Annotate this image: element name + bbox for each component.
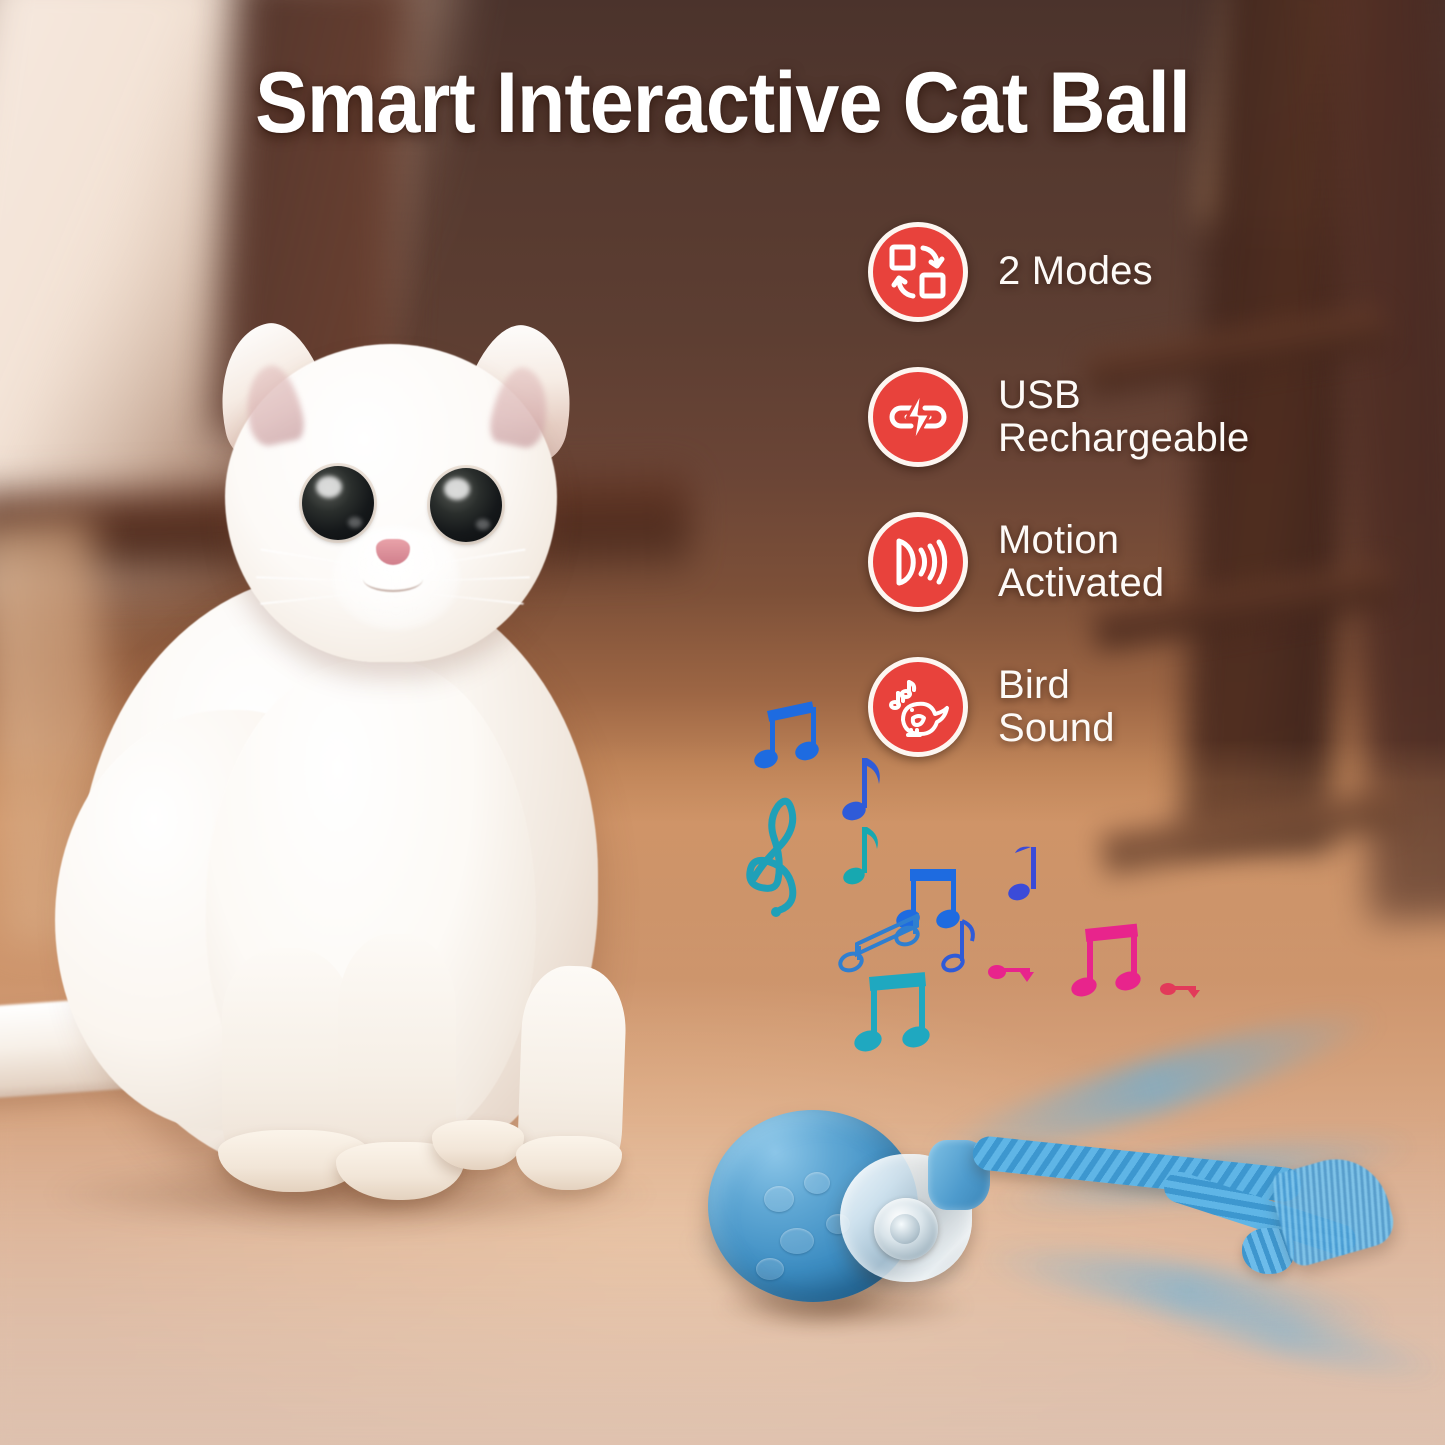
paw-print-emboss (756, 1258, 784, 1280)
page-title: Smart Interactive Cat Ball (58, 54, 1387, 153)
two-modes-swap-icon (868, 222, 968, 322)
cat-mouth (363, 566, 423, 592)
paw-print-emboss (780, 1228, 814, 1254)
feature-bird-sound[interactable]: Bird Sound (868, 651, 1348, 763)
cat-eye-right (430, 468, 502, 542)
cat-photo-subject (0, 330, 760, 1210)
feature-label: Motion Activated (998, 519, 1164, 605)
feature-usb-rechargeable[interactable]: USB Rechargeable (868, 361, 1348, 473)
cat-ball-toy (690, 1080, 1445, 1410)
feature-label: USB Rechargeable (998, 374, 1249, 460)
product-marketing-image: Smart Interactive Cat Ball 2 Modes (0, 0, 1445, 1445)
feature-motion-activated[interactable]: Motion Activated (868, 506, 1348, 618)
feature-label: Bird Sound (998, 664, 1115, 750)
bird-music-icon (868, 657, 968, 757)
motion-sensor-waves-icon (868, 512, 968, 612)
paw-print-emboss (804, 1172, 830, 1194)
paw-print-emboss (764, 1186, 794, 1212)
usb-charge-bolt-icon (868, 367, 968, 467)
cat-eye-left (302, 466, 374, 540)
feature-two-modes[interactable]: 2 Modes (868, 216, 1348, 328)
toy-motor-hub (890, 1214, 920, 1244)
feature-label: 2 Modes (998, 250, 1153, 293)
feature-list: 2 Modes USB Rechargeable (868, 216, 1348, 796)
